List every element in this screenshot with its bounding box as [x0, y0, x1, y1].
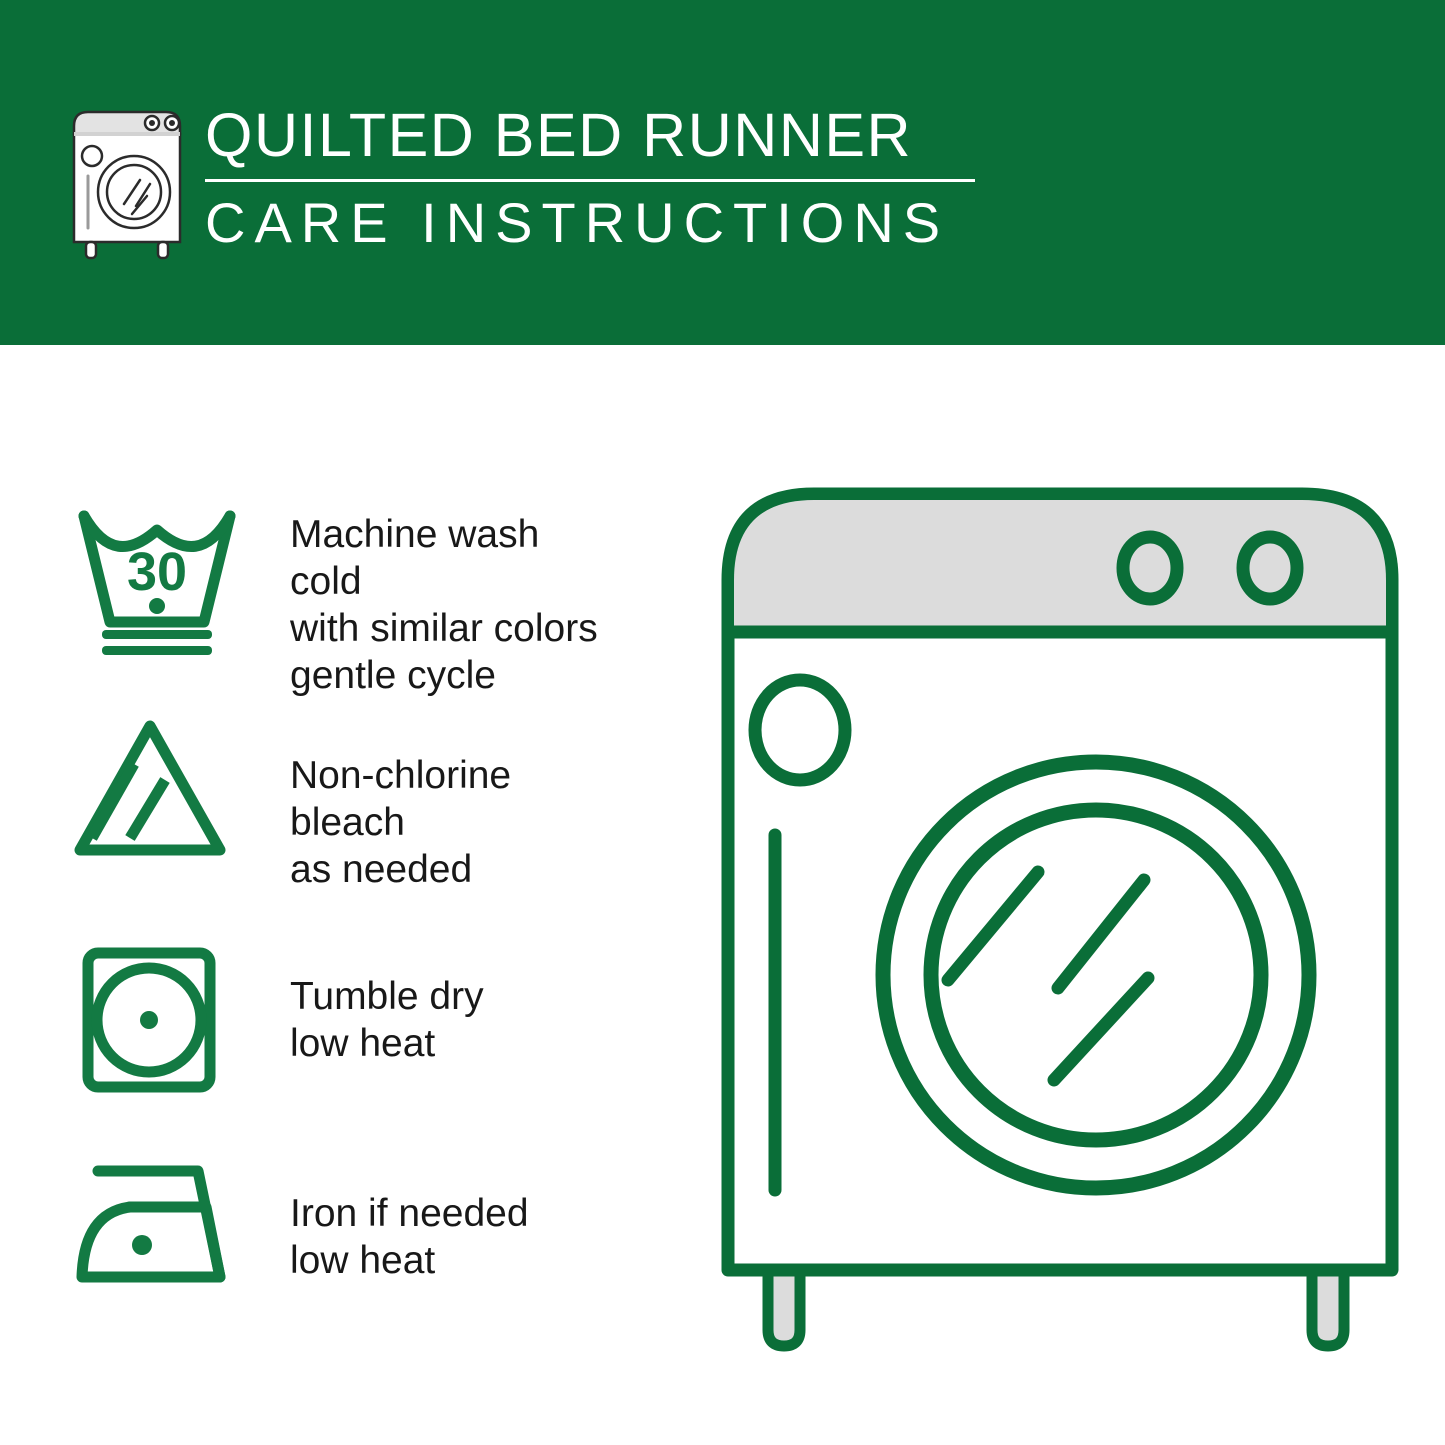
header-text-block: QUILTED BED RUNNER CARE INSTRUCTIONS — [205, 100, 995, 256]
care-label-line: Tumble dry — [290, 973, 620, 1020]
page-title: QUILTED BED RUNNER — [205, 100, 995, 170]
care-label-line: with similar colors — [290, 605, 620, 652]
care-label-iron: Iron if needed low heat — [290, 1190, 620, 1284]
machine-leg-left — [768, 1270, 800, 1346]
care-label-line: low heat — [290, 1237, 620, 1284]
care-label-line: Non-chlorine bleach — [290, 752, 620, 846]
machine-control-panel — [734, 500, 1386, 632]
wash-basin-icon: 30 — [72, 498, 242, 658]
care-label-line: Machine wash cold — [290, 511, 620, 605]
care-row-iron: Iron if needed low heat — [0, 1155, 640, 1325]
washing-machine-icon — [62, 104, 192, 264]
header-band: QUILTED BED RUNNER CARE INSTRUCTIONS — [0, 0, 1445, 345]
page-subtitle: CARE INSTRUCTIONS — [205, 190, 995, 256]
care-label-wash: Machine wash cold with similar colors ge… — [290, 511, 620, 699]
care-label-line: low heat — [290, 1020, 620, 1067]
bleach-triangle-icon — [72, 718, 242, 878]
care-label-bleach: Non-chlorine bleach as needed — [290, 752, 620, 893]
tumble-dry-icon — [72, 945, 242, 1105]
washing-machine-illustration — [718, 480, 1408, 1370]
care-row-bleach: Non-chlorine bleach as needed — [0, 718, 640, 888]
care-row-wash: 30 Machine wash cold with similar colors… — [0, 498, 640, 668]
machine-leg-right — [1312, 1270, 1344, 1346]
care-label-tumble-dry: Tumble dry low heat — [290, 973, 620, 1067]
care-instructions-page: QUILTED BED RUNNER CARE INSTRUCTIONS 30 … — [0, 0, 1445, 1445]
care-label-line: as needed — [290, 846, 620, 893]
care-row-tumble-dry: Tumble dry low heat — [0, 945, 640, 1115]
care-label-line: Iron if needed — [290, 1190, 620, 1237]
title-divider — [205, 179, 975, 182]
care-label-line: gentle cycle — [290, 652, 620, 699]
wash-temperature-value: 30 — [127, 542, 187, 602]
iron-icon — [72, 1155, 242, 1315]
